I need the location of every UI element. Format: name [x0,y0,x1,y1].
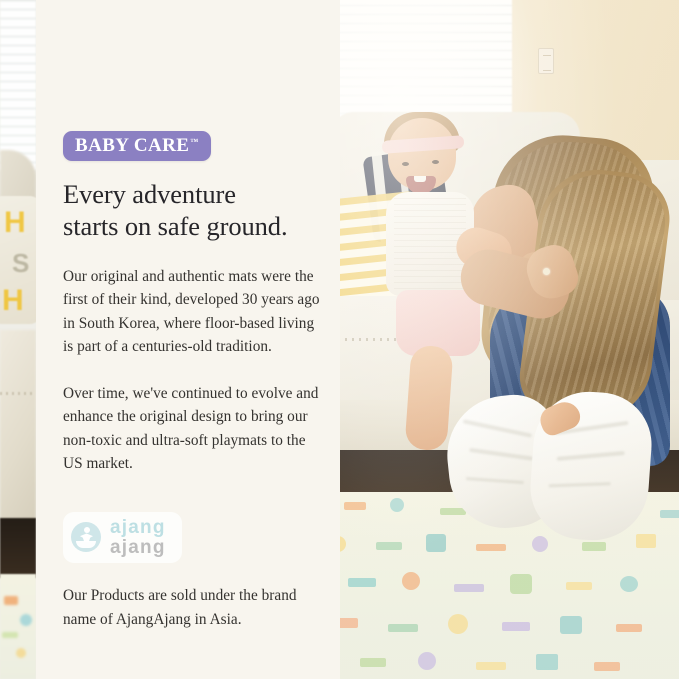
headline-line-2: starts on safe ground. [63,211,287,241]
left-strip-sofa-seat [0,330,36,520]
ajang-parent-and-child-icon [71,522,101,552]
left-strip-floor [0,518,36,578]
left-strip-playmat [0,574,36,679]
body-paragraph-3: Our Products are sold under the brand na… [63,584,325,631]
left-strip-letter-s: S [12,248,29,279]
body-paragraph-1: Our original and authentic mats were the… [63,265,325,359]
badge-label: BABY CARE [75,135,189,156]
headline-line-1: Every adventure [63,179,236,209]
trademark-symbol: ™ [190,137,198,146]
content-panel: BABY CARE™ Every adventure starts on saf… [36,0,340,679]
body-paragraph-2: Over time, we've continued to evolve and… [63,382,325,476]
left-strip-blinds-icon [0,0,36,170]
ajang-logo-line-top: ajang [110,518,166,537]
baby-care-logo-badge: BABY CARE™ [63,131,211,161]
photo-baby-eye-right [432,160,439,164]
photo-mother-ring [543,268,550,275]
photo-baby-eye-left [402,162,409,166]
photo-baby-leg [404,345,453,452]
left-strip-stitch-line [0,392,36,395]
left-strip-letter-h2: H [2,284,24,318]
ajang-logo-line-bottom: ajang [110,538,166,557]
hero-photo [340,0,679,679]
ad-panel-root: H S H BABY CARE™ Every adventure starts … [0,0,679,679]
photo-wall-outlet [538,48,554,74]
page-title: Every adventure starts on safe ground. [63,179,325,243]
left-photo-strip: H S H [0,0,36,679]
ajangajang-logo: ajang ajang [63,512,182,563]
left-strip-letter-h: H [4,206,26,240]
photo-baby-tooth [414,176,426,182]
